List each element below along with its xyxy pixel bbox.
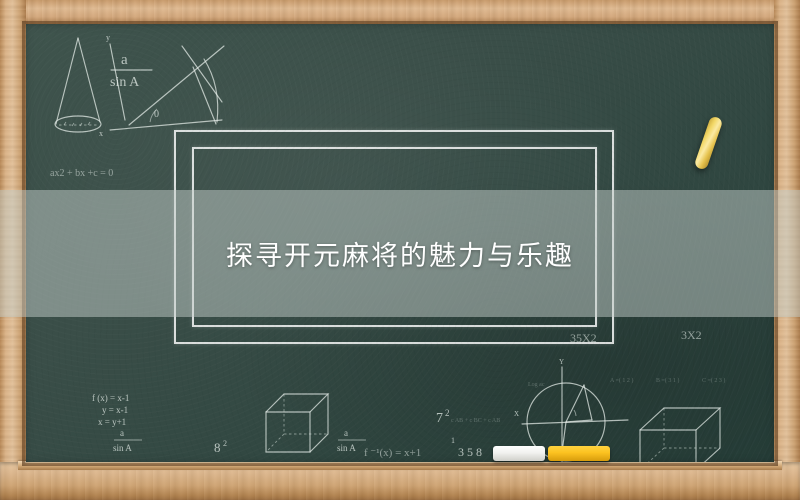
white-chalk-stick [493, 446, 545, 461]
svg-text:A =( 1 2 ): A =( 1 2 ) [610, 377, 633, 384]
svg-text:y: y [106, 33, 110, 42]
svg-text:sin A: sin A [110, 75, 140, 90]
svg-text:a: a [120, 428, 124, 438]
cone-diagram [55, 38, 101, 132]
chalkboard-banner: a sin A y x 0 ax2 + bx +c [0, 0, 800, 500]
svg-text:f (x) = x-1: f (x) = x-1 [92, 393, 129, 403]
fraction-a-sin-a-2: a sin A [113, 428, 142, 453]
svg-text:7: 7 [436, 411, 443, 426]
svg-text:sin A: sin A [113, 443, 132, 453]
frame-top-rail [0, 0, 800, 24]
svg-text:X: X [514, 410, 519, 418]
svg-text:sin A: sin A [337, 443, 356, 453]
subtraction-column: 3 5 8 2 7 9 6 3 7 1 [451, 436, 498, 462]
title-overlay-band: 探寻开元麻将的魅力与乐趣 [0, 190, 800, 317]
inverse-function: f ⁻¹(x) = x+1 [364, 447, 421, 459]
svg-text:3 5 8: 3 5 8 [458, 445, 482, 459]
yellow-chalk-stick [548, 446, 610, 461]
power-eight: 8 2 [214, 439, 227, 455]
expr-3x2: 3X2 [681, 328, 702, 342]
svg-text:2: 2 [223, 439, 227, 448]
chalk-tray-lip [18, 461, 782, 470]
svg-text:2: 2 [445, 408, 450, 418]
function-equations: f (x) = x-1 y = x-1 x = y+1 [92, 393, 129, 427]
log-ac: Log ac [528, 382, 545, 388]
svg-text:B =( 3 1 ): B =( 3 1 ) [656, 377, 679, 384]
svg-text:2 7 9: 2 7 9 [458, 459, 482, 462]
svg-text:y = x-1: y = x-1 [102, 405, 128, 415]
cube-right [640, 408, 720, 462]
svg-text:1: 1 [451, 436, 455, 445]
matrix-expressions: A =( 1 2 ) B =( 3 1 ) C =( 2 3 ) [610, 377, 725, 384]
quadratic-equation: ax2 + bx +c = 0 [50, 168, 113, 179]
fraction-a-sin-a-3: a sin A [337, 428, 366, 453]
vector-expression: c AB + c BC + c AB [451, 418, 500, 424]
page-title: 探寻开元麻将的魅力与乐趣 [226, 234, 574, 273]
svg-text:x = y+1: x = y+1 [98, 417, 126, 427]
cube-left [266, 394, 328, 452]
svg-text:8: 8 [214, 440, 221, 455]
power-seven: 7 2 [436, 408, 450, 426]
svg-text:a: a [121, 52, 128, 68]
angle-triangle-diagram: y x 0 [99, 33, 224, 138]
svg-text:C =( 2 3 ): C =( 2 3 ) [702, 377, 725, 384]
svg-text:0: 0 [154, 109, 159, 120]
svg-text:a: a [344, 428, 348, 438]
svg-text:Y: Y [559, 358, 564, 366]
svg-text:x: x [99, 129, 103, 138]
fraction-a-sin-a: a sin A [110, 52, 152, 90]
